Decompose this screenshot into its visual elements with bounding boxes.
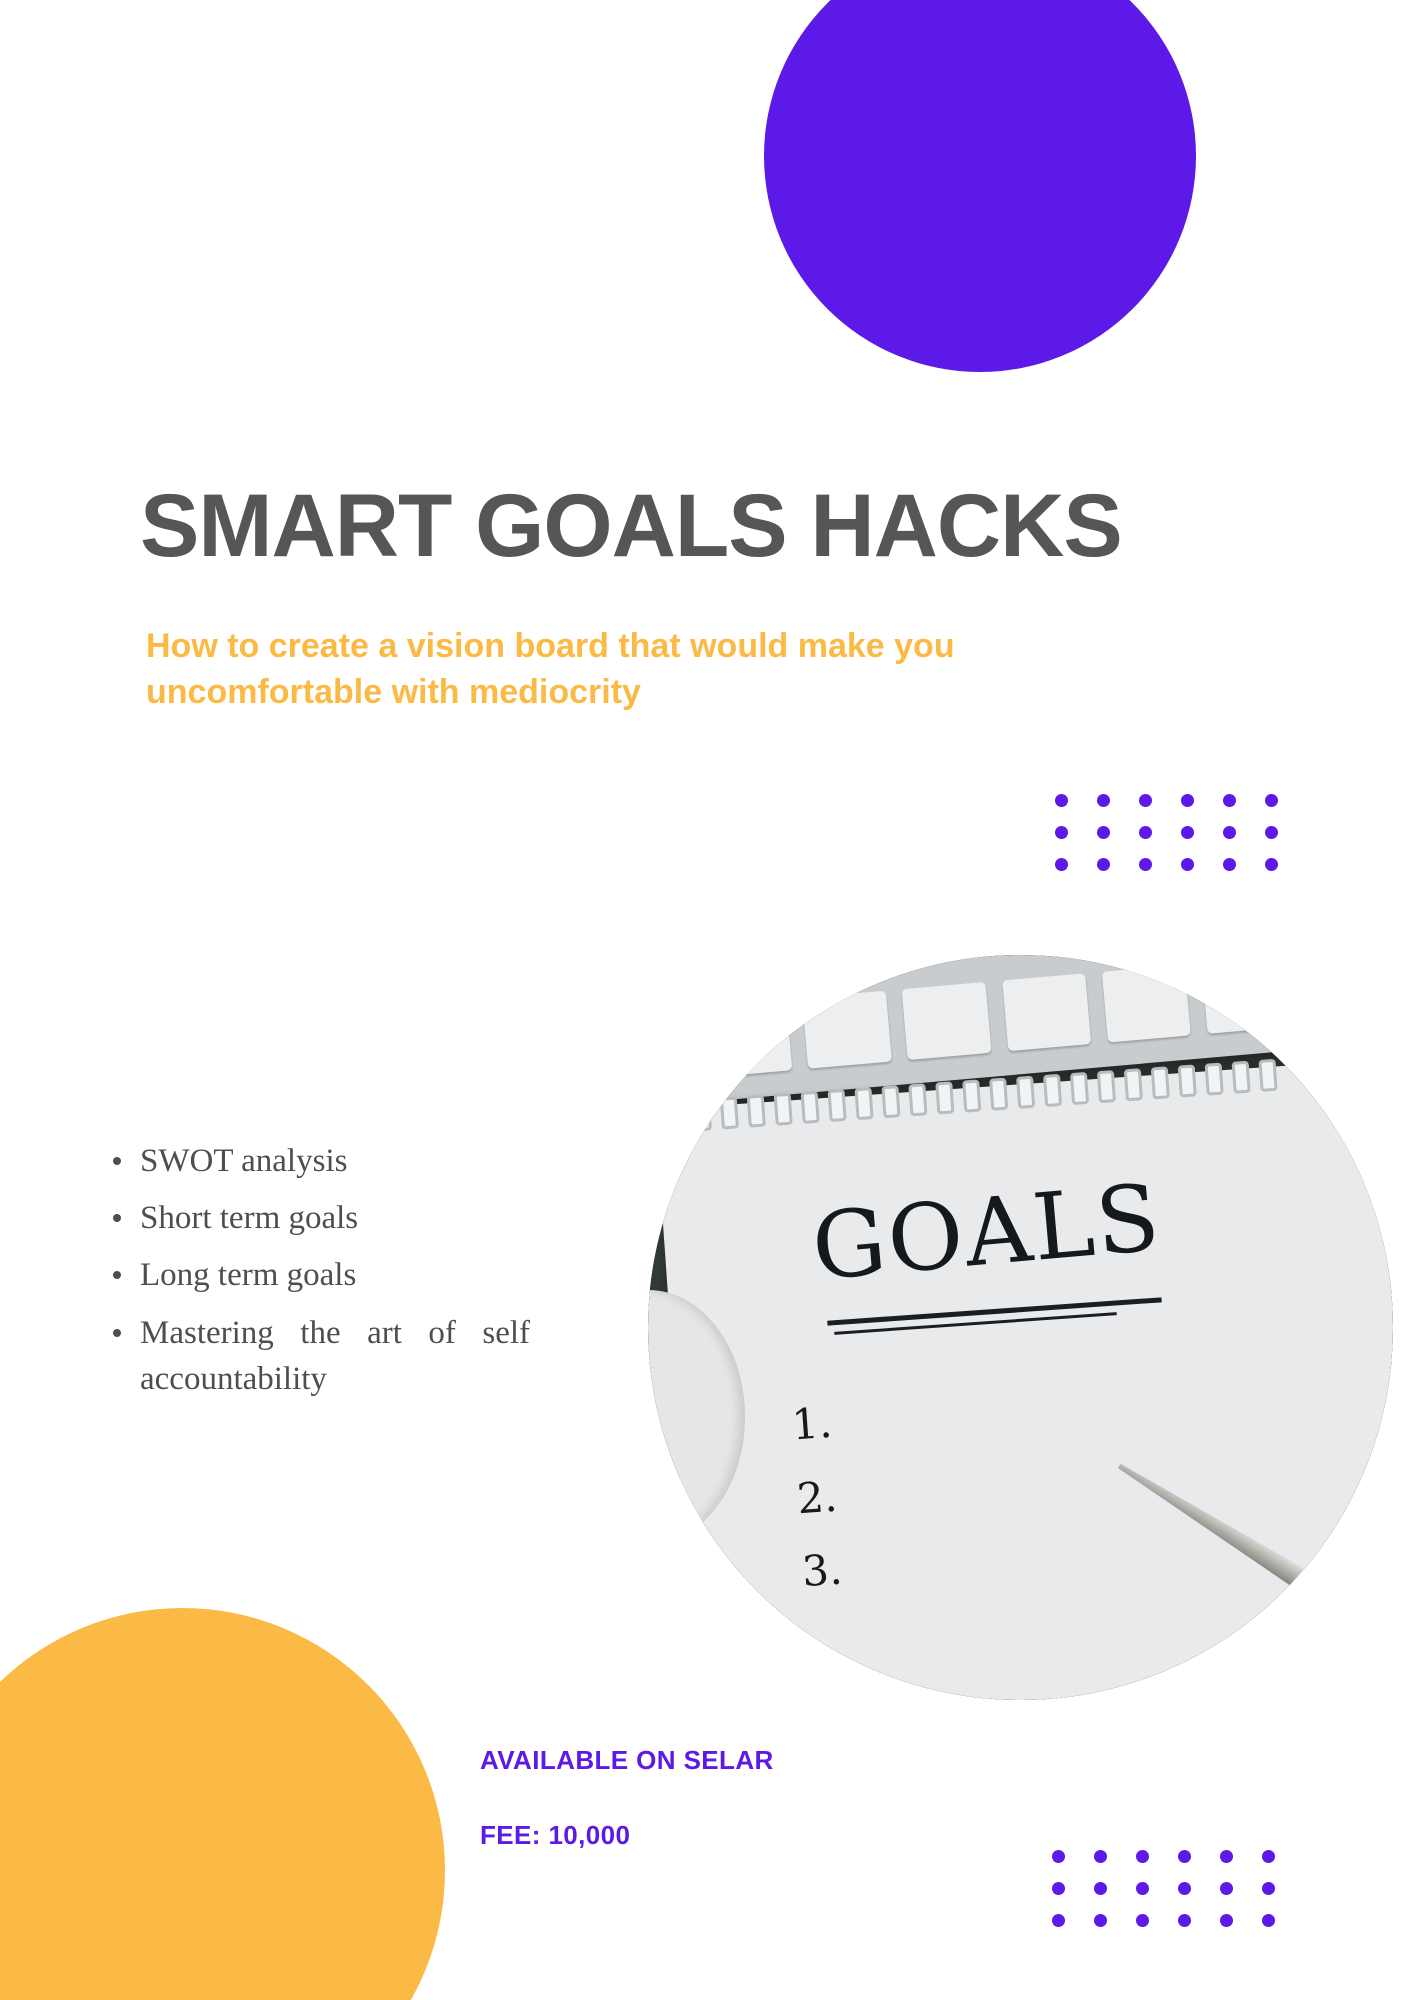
photo-spiral-ring bbox=[1204, 1063, 1223, 1096]
dot bbox=[1223, 858, 1236, 871]
dot bbox=[1220, 1914, 1233, 1927]
photo-spiral-ring bbox=[692, 1098, 711, 1131]
dot bbox=[1094, 1882, 1107, 1895]
dot bbox=[1055, 794, 1068, 807]
availability-label: AVAILABLE ON SELAR bbox=[480, 1745, 774, 1776]
list-item: Mastering the art of self accountability bbox=[140, 1310, 530, 1402]
dot bbox=[1220, 1850, 1233, 1863]
headline-block: SMART GOALS HACKS How to create a vision… bbox=[140, 480, 1260, 715]
dot bbox=[1136, 1914, 1149, 1927]
photo-keyboard-key bbox=[902, 982, 991, 1061]
photo-spiral-ring bbox=[827, 1089, 846, 1122]
photo-spiral-ring bbox=[1097, 1070, 1116, 1103]
yellow-circle-decoration bbox=[0, 1608, 445, 2000]
dot bbox=[1052, 1914, 1065, 1927]
photo-inner: GOALS 1. 2. 3. bbox=[648, 955, 1393, 1700]
dot bbox=[1052, 1882, 1065, 1895]
dot bbox=[1097, 858, 1110, 871]
page-subtitle: How to create a vision board that would … bbox=[140, 571, 1026, 715]
dot bbox=[1094, 1914, 1107, 1927]
photo-keyboard-key bbox=[1002, 973, 1091, 1052]
dot bbox=[1094, 1850, 1107, 1863]
dot bbox=[1220, 1882, 1233, 1895]
page-title: SMART GOALS HACKS bbox=[140, 480, 1260, 571]
dot-grid-top-decoration bbox=[1055, 784, 1307, 880]
goals-notebook-photo: GOALS 1. 2. 3. bbox=[648, 955, 1393, 1700]
purple-circle-decoration bbox=[764, 0, 1196, 372]
photo-spiral-ring bbox=[908, 1083, 927, 1116]
dot bbox=[1139, 826, 1152, 839]
photo-handwritten-item: 3. bbox=[800, 1533, 845, 1609]
dot bbox=[1055, 858, 1068, 871]
photo-spiral-ring bbox=[719, 1097, 738, 1130]
photo-spiral-ring bbox=[1016, 1076, 1035, 1109]
photo-spiral-ring bbox=[1150, 1066, 1169, 1099]
dot bbox=[1265, 858, 1278, 871]
dot bbox=[1181, 794, 1194, 807]
dot bbox=[1262, 1914, 1275, 1927]
topics-list: SWOT analysis Short term goals Long term… bbox=[100, 1138, 530, 1413]
dot bbox=[1181, 826, 1194, 839]
dot bbox=[1097, 826, 1110, 839]
dot bbox=[1262, 1850, 1275, 1863]
dot bbox=[1262, 1882, 1275, 1895]
photo-keyboard-key bbox=[1202, 956, 1291, 1035]
photo-spiral-ring bbox=[881, 1085, 900, 1118]
photo-handwritten-item: 2. bbox=[794, 1459, 839, 1535]
dot bbox=[1136, 1850, 1149, 1863]
photo-spiral-ring bbox=[800, 1091, 819, 1124]
photo-spiral-ring bbox=[1070, 1072, 1089, 1105]
photo-keyboard-key bbox=[803, 991, 892, 1070]
photo-spiral-ring bbox=[854, 1087, 873, 1120]
list-item: Short term goals bbox=[140, 1195, 530, 1241]
photo-spiral-ring bbox=[1258, 1059, 1277, 1092]
dot bbox=[1055, 826, 1068, 839]
dot bbox=[1181, 858, 1194, 871]
dot bbox=[1178, 1882, 1191, 1895]
photo-keyboard-key bbox=[1102, 964, 1191, 1043]
dot bbox=[1178, 1914, 1191, 1927]
dot bbox=[1139, 858, 1152, 871]
photo-spiral-ring bbox=[773, 1093, 792, 1126]
dot bbox=[1223, 794, 1236, 807]
photo-spiral-ring bbox=[1043, 1074, 1062, 1107]
dot bbox=[1097, 794, 1110, 807]
list-item: Long term goals bbox=[140, 1252, 530, 1298]
photo-spiral-ring bbox=[989, 1078, 1008, 1111]
dot bbox=[1139, 794, 1152, 807]
dot bbox=[1265, 794, 1278, 807]
photo-handwritten-item: 1. bbox=[789, 1386, 834, 1462]
footer-block: AVAILABLE ON SELAR FEE: 10,000 bbox=[480, 1745, 774, 1851]
dot bbox=[1265, 826, 1278, 839]
photo-spiral-ring bbox=[1231, 1061, 1250, 1094]
photo-spiral-ring bbox=[962, 1080, 981, 1113]
photo-spiral-ring bbox=[746, 1095, 765, 1128]
list-item: SWOT analysis bbox=[140, 1138, 530, 1184]
poster-canvas: SMART GOALS HACKS How to create a vision… bbox=[0, 0, 1414, 2000]
dot bbox=[1223, 826, 1236, 839]
dot bbox=[1136, 1882, 1149, 1895]
dot bbox=[1052, 1850, 1065, 1863]
photo-keyboard-key bbox=[703, 999, 792, 1078]
photo-spiral-ring bbox=[1177, 1065, 1196, 1098]
fee-label: FEE: 10,000 bbox=[480, 1776, 774, 1851]
photo-spiral-ring bbox=[935, 1082, 954, 1115]
photo-spiral-ring bbox=[1123, 1068, 1142, 1101]
dot-grid-bottom-decoration bbox=[1052, 1840, 1304, 1936]
dot bbox=[1178, 1850, 1191, 1863]
